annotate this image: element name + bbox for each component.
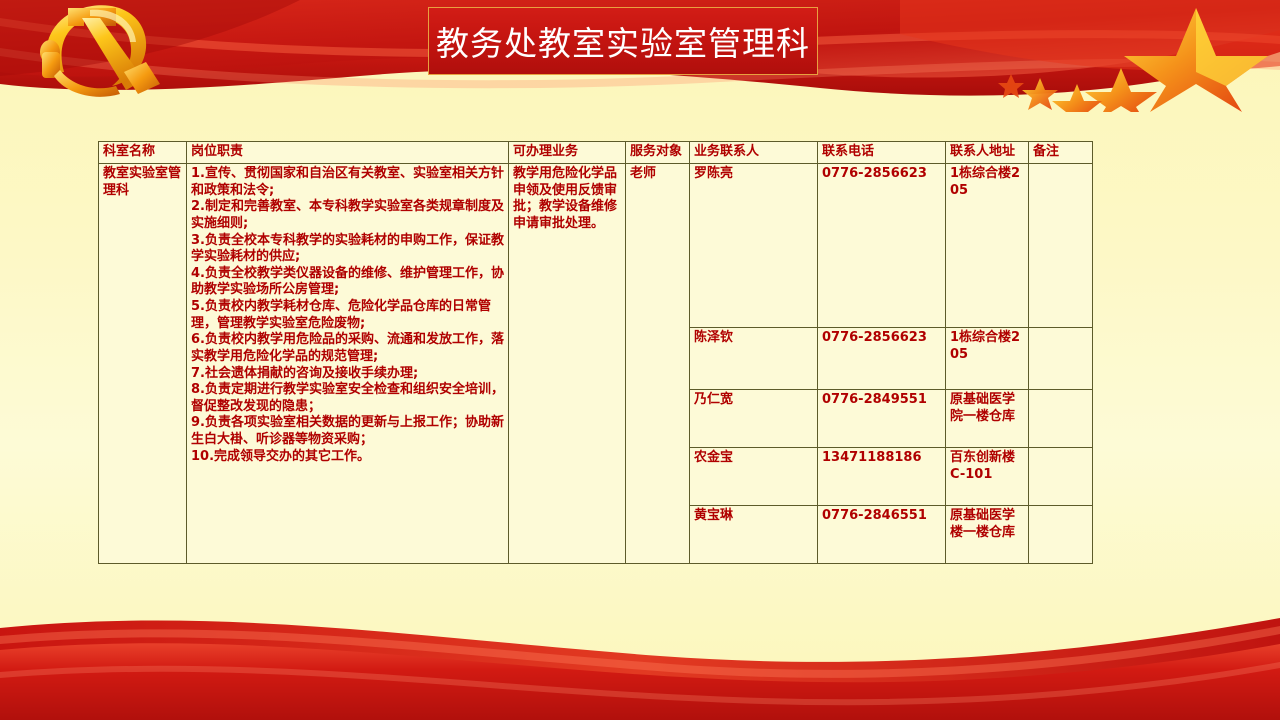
duty-item: 5.负责校内教学耗材仓库、危险化学品仓库的日常管理，管理教学实验室危险废物; — [191, 299, 504, 332]
cell-contact-address: 原基础医学楼一楼仓库 — [946, 506, 1029, 564]
cell-duties: 1.宣传、贯彻国家和自治区有关教室、实验室相关方针和政策和法令; 2.制定和完善… — [187, 164, 509, 564]
cell-note — [1029, 164, 1093, 328]
col-header-contact-person: 业务联系人 — [690, 142, 818, 164]
party-emblem-hammer-sickle-icon — [20, 0, 188, 108]
cell-note — [1029, 448, 1093, 506]
duty-item: 9.负责各项实验室相关数据的更新与上报工作；协助新生白大褂、听诊器等物资采购； — [191, 415, 504, 448]
cell-contact-address: 1栋综合楼205 — [946, 328, 1029, 390]
cell-note — [1029, 328, 1093, 390]
duty-item: 6.负责校内教学用危险品的采购、流通和发放工作，落实教学用危险化学品的规范管理; — [191, 332, 504, 365]
cell-contact-address: 原基础医学院一楼仓库 — [946, 390, 1029, 448]
table-header-row: 科室名称 岗位职责 可办理业务 服务对象 业务联系人 联系电话 联系人地址 备注 — [99, 142, 1093, 164]
duty-item: 4.负责全校教学类仪器设备的维修、维护管理工作，协助教学实验场所公房管理; — [191, 266, 504, 299]
cell-contact-phone: 0776-2856623 — [818, 328, 946, 390]
col-header-department: 科室名称 — [99, 142, 187, 164]
cell-contact-name: 农金宝 — [690, 448, 818, 506]
col-header-address: 联系人地址 — [946, 142, 1029, 164]
col-header-business: 可办理业务 — [509, 142, 626, 164]
cell-contact-name: 黄宝琳 — [690, 506, 818, 564]
duty-table: 科室名称 岗位职责 可办理业务 服务对象 业务联系人 联系电话 联系人地址 备注… — [98, 141, 1093, 564]
cell-contact-name: 陈泽钦 — [690, 328, 818, 390]
cell-note — [1029, 506, 1093, 564]
cell-contact-phone: 0776-2846551 — [818, 506, 946, 564]
cell-contact-phone: 0776-2856623 — [818, 164, 946, 328]
duty-table-container: 科室名称 岗位职责 可办理业务 服务对象 业务联系人 联系电话 联系人地址 备注… — [98, 141, 1092, 564]
cell-contact-address: 百东创新楼C-101 — [946, 448, 1029, 506]
cell-contact-address: 1栋综合楼205 — [946, 164, 1029, 328]
slide-canvas: 教务处教室实验室管理科 科室名称 岗位职责 可办理业务 服务对象 业务联系人 联… — [0, 0, 1280, 720]
duty-item: 8.负责定期进行教学实验室安全检查和组织安全培训，督促整改发现的隐患； — [191, 382, 504, 415]
cell-contact-phone: 0776-2849551 — [818, 390, 946, 448]
page-title: 教务处教室实验室管理科 — [436, 17, 810, 65]
cell-department: 教室实验室管理科 — [99, 164, 187, 564]
col-header-phone: 联系电话 — [818, 142, 946, 164]
slide-title-plate: 教务处教室实验室管理科 — [428, 7, 818, 75]
cell-contact-name: 乃仁宽 — [690, 390, 818, 448]
table-row: 教室实验室管理科 1.宣传、贯彻国家和自治区有关教室、实验室相关方针和政策和法令… — [99, 164, 1093, 328]
duty-item: 2.制定和完善教室、本专科教学实验室各类规章制度及实施细则; — [191, 199, 504, 232]
duty-item: 3.负责全校本专科教学的实验耗材的申购工作，保证教学实验耗材的供应; — [191, 233, 504, 266]
duty-item: 1.宣传、贯彻国家和自治区有关教室、实验室相关方针和政策和法令; — [191, 166, 504, 199]
cell-service-target: 老师 — [626, 164, 690, 564]
col-header-note: 备注 — [1029, 142, 1093, 164]
bottom-wave-graphic — [0, 610, 1280, 720]
col-header-duties: 岗位职责 — [187, 142, 509, 164]
cell-note — [1029, 390, 1093, 448]
cell-contact-phone: 13471188186 — [818, 448, 946, 506]
cell-business: 教学用危险化学品申领及使用反馈审批；教学设备维修申请审批处理。 — [509, 164, 626, 564]
duty-item: 10.完成领导交办的其它工作。 — [191, 449, 504, 466]
cell-contact-name: 罗陈亮 — [690, 164, 818, 328]
bottom-wave-decoration — [0, 610, 1280, 720]
col-header-service-target: 服务对象 — [626, 142, 690, 164]
duty-item: 7.社会遗体捐献的咨询及接收手续办理; — [191, 366, 504, 383]
